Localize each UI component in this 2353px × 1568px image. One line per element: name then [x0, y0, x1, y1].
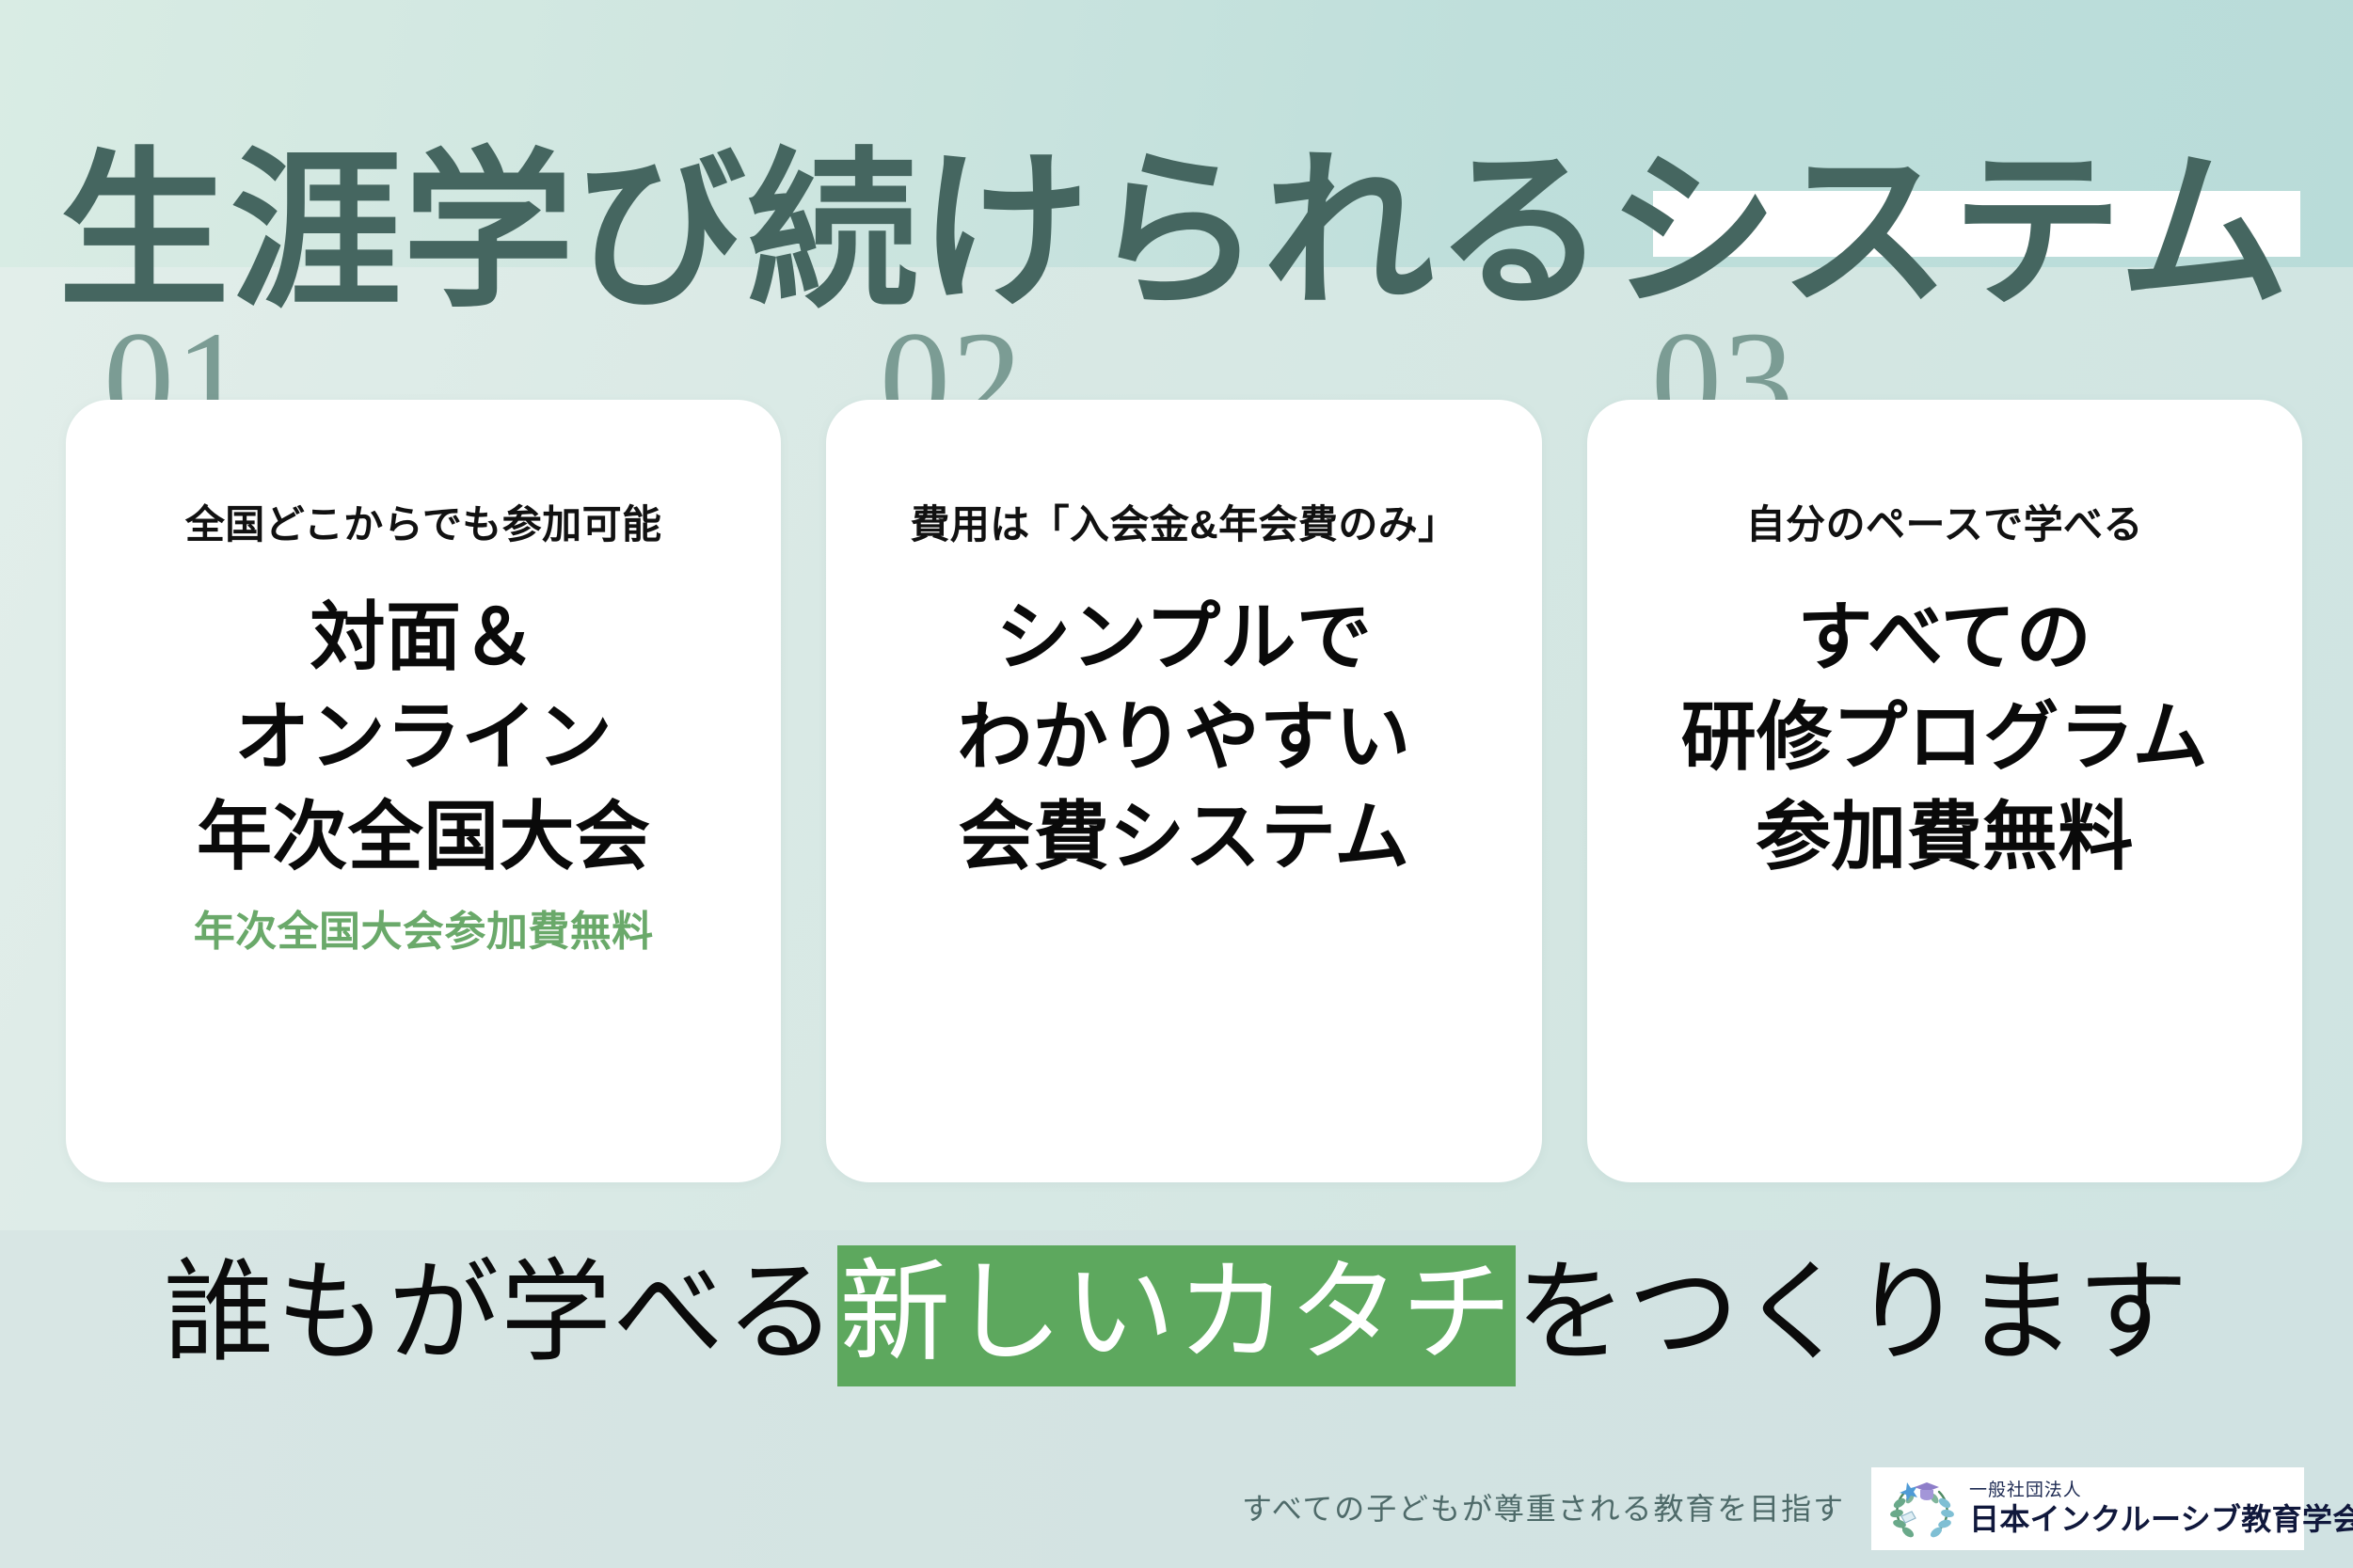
- feature-cards-row: 全国どこからでも参加可能 対面＆ オンライン 年次全国大会 年次全国大会参加費無…: [66, 400, 2302, 1182]
- card-subtitle: 費用は「入会金&年会費のみ」: [910, 501, 1457, 548]
- laurel-wreath-icon: [1884, 1475, 1960, 1543]
- feature-card-02: 費用は「入会金&年会費のみ」 シンプルで わかりやすい 会費システム: [826, 400, 1541, 1182]
- page-title: 生涯学び続けられるシステム: [58, 126, 2316, 352]
- card-main-line: 会費システム: [957, 787, 1410, 887]
- logo-org-name: 日本インクルーシブ教育学会: [1969, 1501, 2353, 1537]
- logo-text-block: 一般社団法人 日本インクルーシブ教育学会: [1969, 1481, 2353, 1537]
- card-note: 年次全国大会参加費無料: [194, 906, 654, 958]
- card-main-line: 対面＆: [197, 588, 650, 688]
- book-icon: [1901, 1512, 1916, 1523]
- card-main-line: 参加費無料: [1681, 787, 2208, 887]
- footer: すべての子どもが尊重される教育を目指す: [0, 1449, 2353, 1568]
- footer-tagline: すべての子どもが尊重される教育を目指す: [1242, 1490, 1845, 1528]
- card-main-line: 研修プログラム: [1681, 688, 2208, 787]
- card-main-text: 対面＆ オンライン 年次全国大会: [197, 588, 650, 887]
- card-subtitle: 全国どこからでも参加可能: [185, 501, 662, 548]
- closing-tagline: 誰もが学べる新しいカタチをつくります: [0, 1238, 2353, 1388]
- card-main-line: 年次全国大会: [197, 787, 650, 887]
- logo-org-kind: 一般社団法人: [1969, 1481, 2353, 1501]
- card-subtitle: 自分のペースで学べる: [1746, 501, 2143, 548]
- feature-card-03: 自分のペースで学べる すべての 研修プログラム 参加費無料: [1587, 400, 2302, 1182]
- card-main-text: シンプルで わかりやすい 会費システム: [957, 588, 1410, 887]
- card-main-text: すべての 研修プログラム 参加費無料: [1681, 588, 2208, 887]
- card-main-line: オンライン: [197, 688, 650, 787]
- poster-root: 生涯学び続けられるシステム 01 02 03 全国どこからでも参加可能 対面＆ …: [0, 0, 2353, 1568]
- tagline-before: 誰もが学べる: [164, 1251, 838, 1375]
- tagline-highlight: 新しいカタチ: [837, 1245, 1516, 1386]
- card-main-line: シンプルで: [957, 588, 1410, 688]
- tagline-after: をつくります: [1516, 1251, 2190, 1375]
- card-main-line: わかりやすい: [957, 688, 1410, 787]
- card-main-line: すべての: [1681, 588, 2208, 688]
- feature-card-01: 全国どこからでも参加可能 対面＆ オンライン 年次全国大会 年次全国大会参加費無…: [66, 400, 781, 1182]
- organization-logo: 一般社団法人 日本インクルーシブ教育学会: [1871, 1467, 2304, 1550]
